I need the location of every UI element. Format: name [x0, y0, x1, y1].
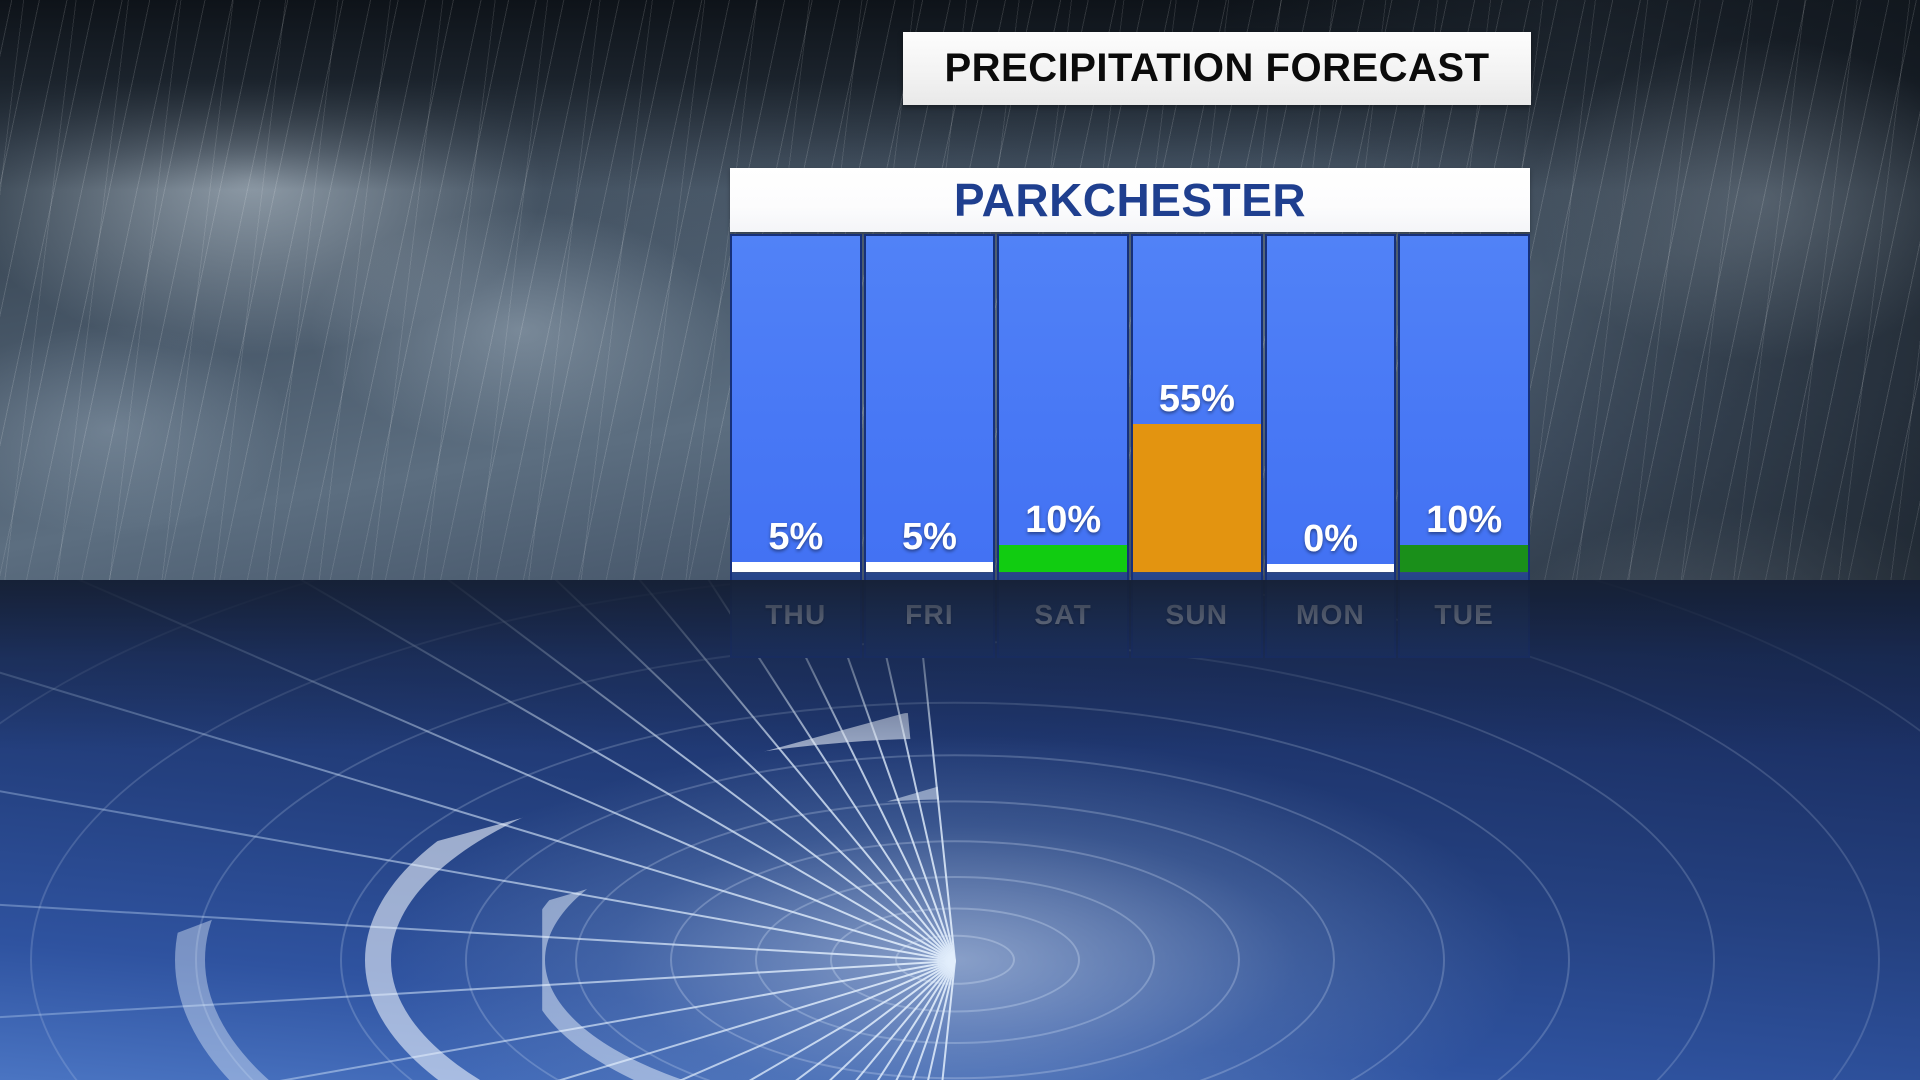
- location-name: PARKCHESTER: [954, 173, 1306, 227]
- precip-bar-fill: [1133, 424, 1261, 572]
- precip-percent-label: 5%: [866, 518, 994, 562]
- page-title: PRECIPITATION FORECAST: [944, 46, 1489, 91]
- precip-bar-fill: [866, 562, 994, 572]
- radar-sweep-graphic: [0, 580, 1920, 1080]
- precipitation-forecast-title-banner: PRECIPITATION FORECAST: [903, 32, 1531, 105]
- weather-graphic-stage: PRECIPITATION FORECAST PARKCHESTER 5%THU…: [0, 0, 1920, 1080]
- precip-percent-label: 10%: [1400, 501, 1528, 545]
- location-header: PARKCHESTER: [730, 168, 1530, 232]
- precip-percent-label: 10%: [999, 501, 1127, 545]
- precip-percent-label: 0%: [1267, 520, 1395, 564]
- precip-bar-fill: [1400, 545, 1528, 572]
- precip-percent-label: 55%: [1133, 380, 1261, 424]
- precip-bar-fill: [732, 562, 860, 572]
- precip-bar-fill: [999, 545, 1127, 572]
- radar-horizon-fade: [0, 580, 1920, 750]
- precip-bar-fill: [1267, 564, 1395, 572]
- precip-percent-label: 5%: [732, 518, 860, 562]
